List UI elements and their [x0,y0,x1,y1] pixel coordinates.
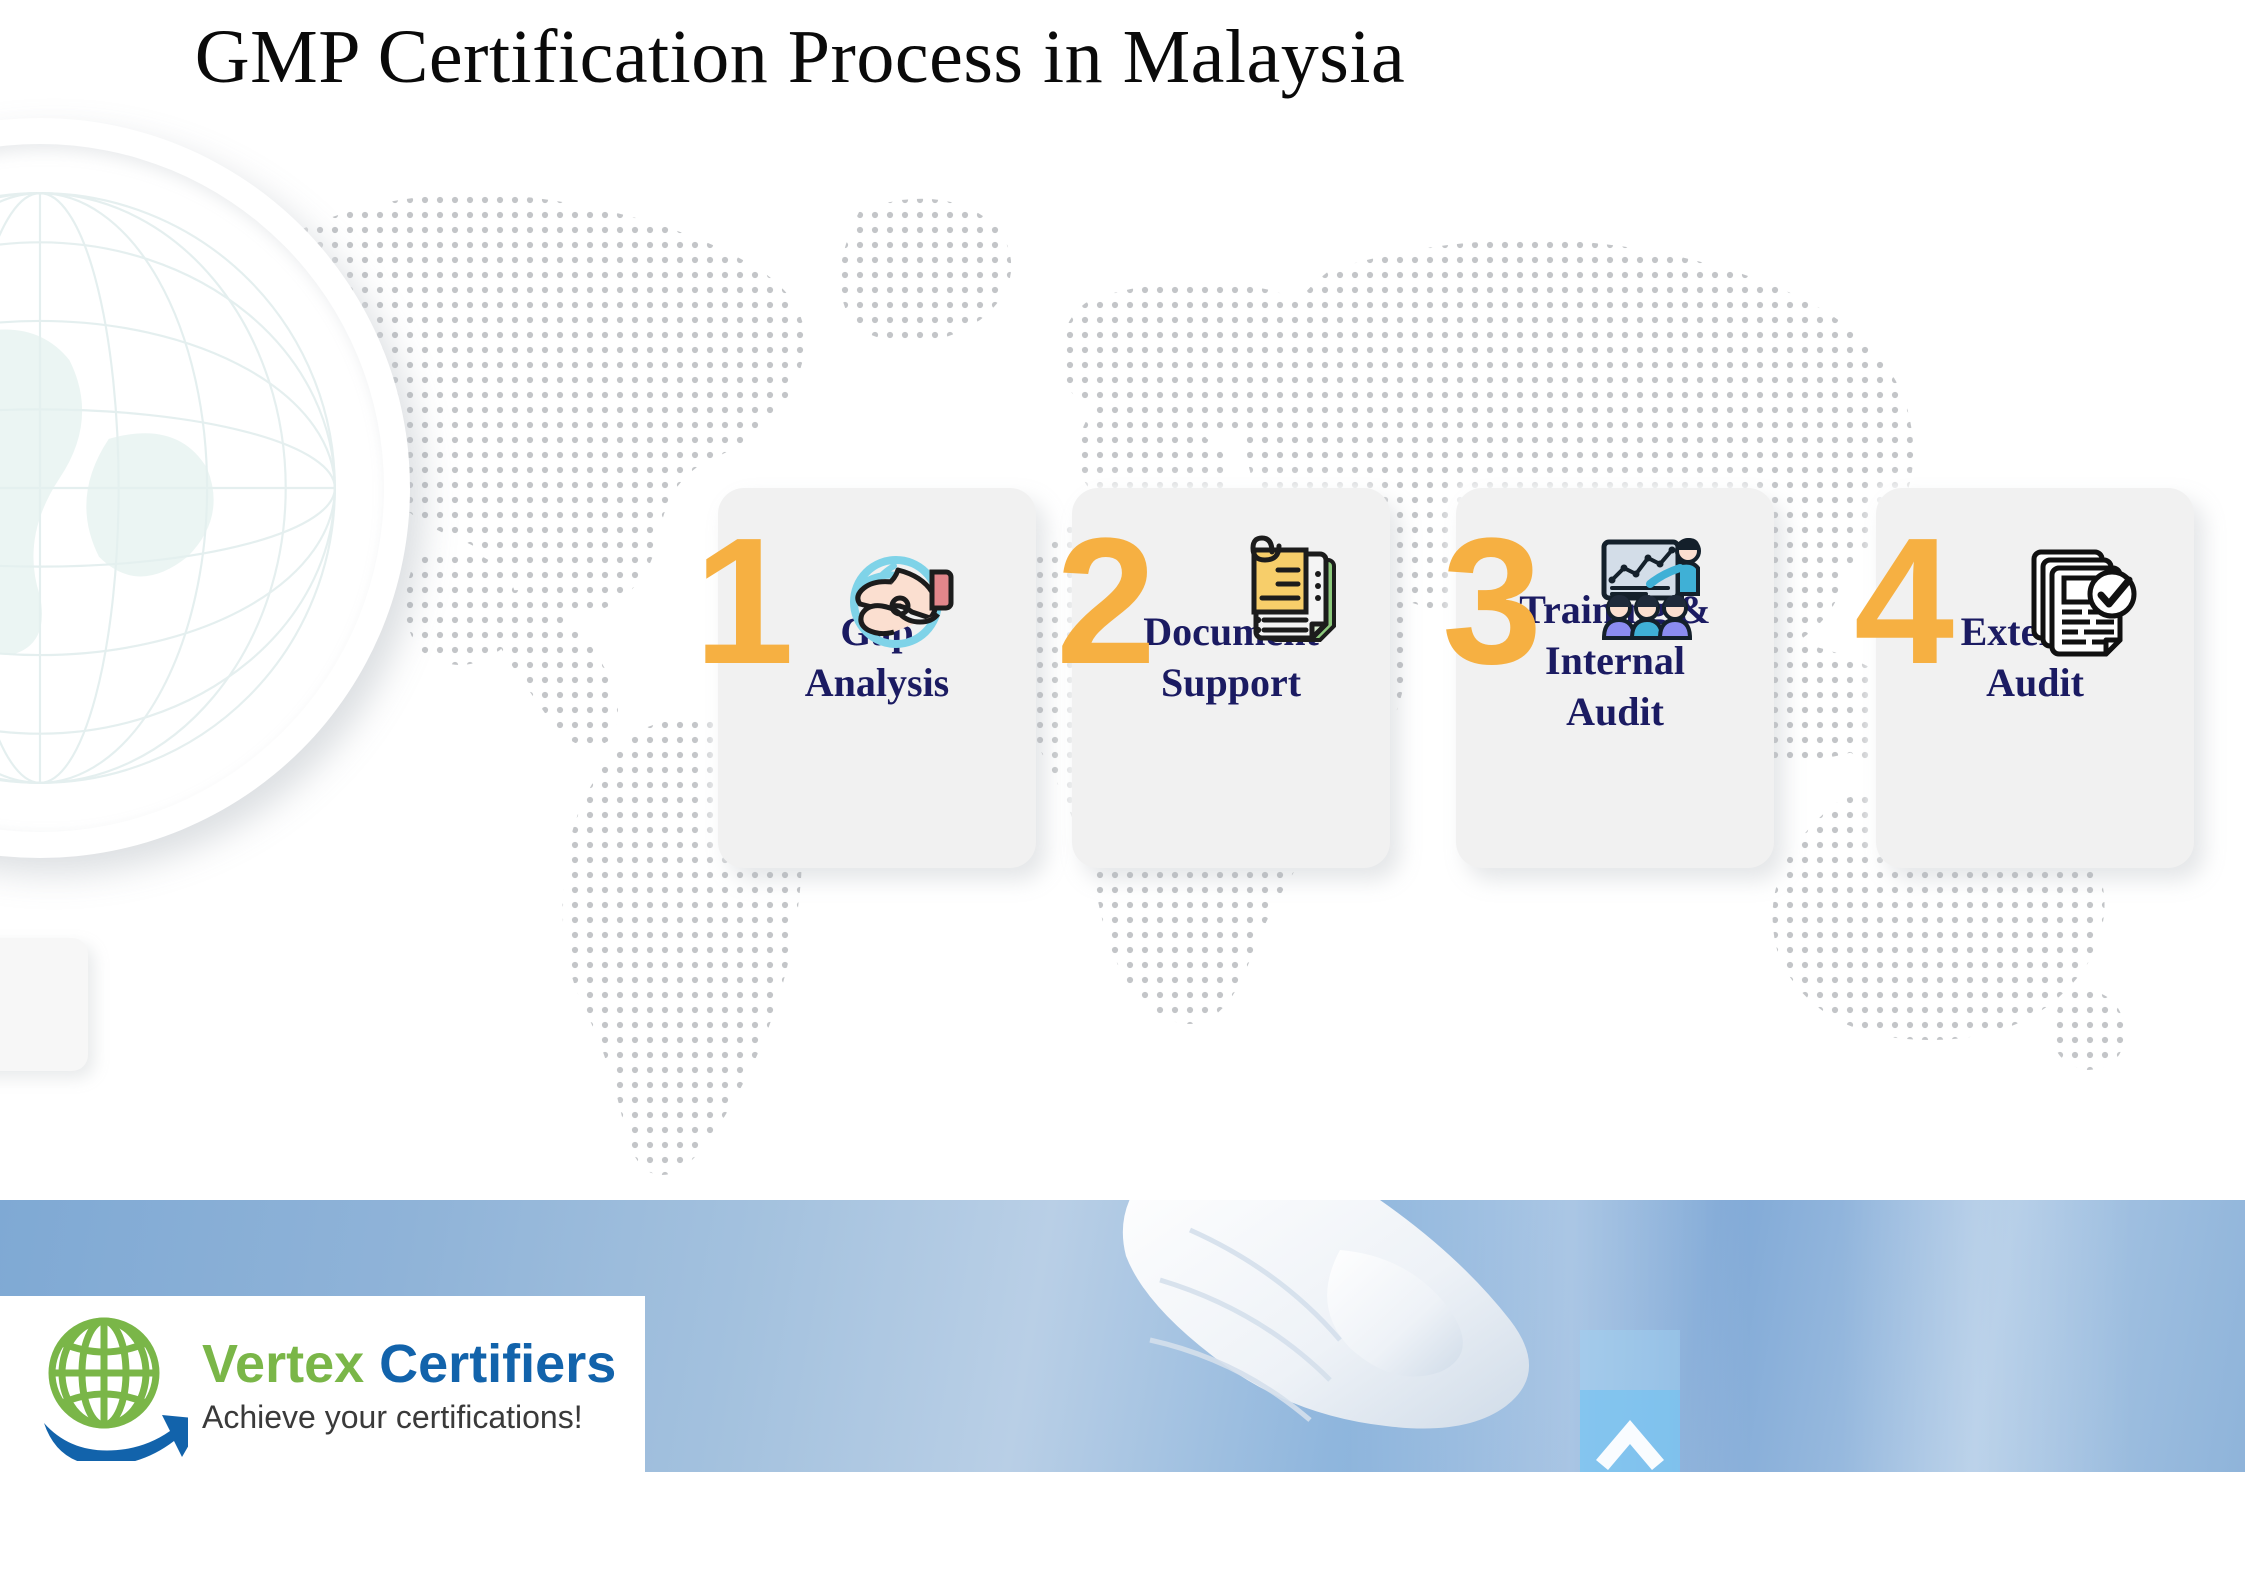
hero-globe-circle: ISO Certification [0,118,410,858]
brand-logo[interactable]: Vertex Certifiers Achieve your certifica… [0,1296,645,1476]
step-number-1: 1 [694,512,794,692]
brand-logo-text: Vertex Certifiers Achieve your certifica… [202,1337,616,1436]
brand-name-part1: Vertex [202,1334,364,1394]
documents-checkmark-icon [2020,540,2140,660]
step-number-4: 4 [1854,512,1954,692]
brand-tagline: Achieve your certifications! [202,1399,616,1436]
iso-certification-badge: ISO Certification [0,938,88,1071]
step-number-2: 2 [1056,512,1156,692]
globe-sphere-graphic [0,144,384,832]
infographic-canvas: GMP Certification Process in Malaysia [0,0,2245,1587]
training-presentation-icon [1590,528,1710,648]
handshake-globe-icon [836,540,956,660]
globe-arrow-logo-icon [28,1311,188,1461]
page-title: GMP Certification Process in Malaysia [0,14,1600,101]
brand-name: Vertex Certifiers [202,1337,616,1391]
globe-inner-disc [0,144,384,832]
touchscreen-glow-arrow-icon [1560,1320,1820,1472]
iso-badge-line2: Certification [0,1003,64,1046]
step-number-3: 3 [1442,512,1542,692]
document-paperclip-icon [1232,530,1352,650]
brand-name-part2: Certifiers [379,1334,616,1394]
iso-badge-line1: ISO [0,960,64,1003]
